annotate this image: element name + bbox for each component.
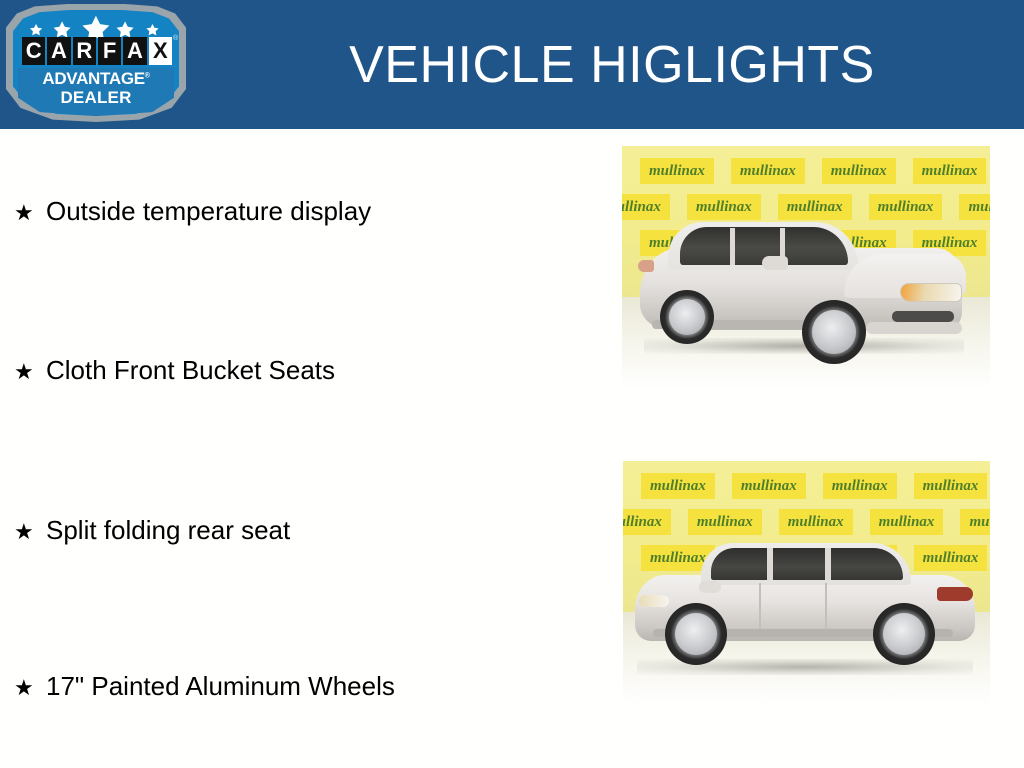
car-door-seam bbox=[759, 583, 761, 631]
mullinax-tile: mullinax bbox=[870, 509, 944, 535]
mullinax-tile: mullinax bbox=[914, 473, 988, 499]
car-b-pillar bbox=[767, 548, 773, 580]
car-illustration-side-profile bbox=[629, 537, 981, 687]
vehicle-photo-side-profile: mullinax mullinax mullinax mullinax mull… bbox=[623, 461, 990, 705]
mullinax-tile: mullinax bbox=[779, 509, 853, 535]
carfax-advantage-dealer-logo: C A R F A X ® ADVANTAGE® DEALER bbox=[6, 4, 186, 122]
car-rear-wheel-hub bbox=[883, 613, 925, 655]
list-item: ★ Split folding rear seat bbox=[14, 516, 290, 545]
car-front-wheel-hub bbox=[675, 613, 717, 655]
car-window-glass bbox=[711, 548, 903, 580]
list-item: ★ Cloth Front Bucket Seats bbox=[14, 356, 335, 385]
logo-tagline-panel: ADVANTAGE® DEALER bbox=[18, 68, 174, 116]
mullinax-tile: mullin bbox=[960, 509, 990, 535]
mullinax-tile: mullinax bbox=[688, 509, 762, 535]
logo-tagline-advantage: ADVANTAGE® bbox=[42, 70, 149, 89]
car-headlight bbox=[900, 283, 962, 302]
vehicle-highlights-list: ★ Outside temperature display ★ Cloth Fr… bbox=[0, 129, 600, 768]
car-c-pillar bbox=[825, 548, 831, 580]
car-front-bumper bbox=[866, 322, 962, 334]
mullinax-tile: mullinax bbox=[913, 158, 987, 184]
highlight-label: Outside temperature display bbox=[46, 197, 371, 226]
carfax-registered-mark: ® bbox=[173, 35, 178, 42]
mullinax-tile: mullinax bbox=[822, 158, 896, 184]
mullinax-tile: mullinax bbox=[732, 473, 806, 499]
highlight-label: Cloth Front Bucket Seats bbox=[46, 356, 335, 385]
backdrop-tile-row: mullinax mullinax mullinax mullinax bbox=[641, 473, 987, 499]
backdrop-tile-row: mullinax mullinax mullinax mullinax bbox=[640, 158, 986, 184]
backdrop-tile-row: mullinax mullinax mullinax mullinax mull… bbox=[623, 509, 990, 535]
star-bullet-icon: ★ bbox=[14, 522, 46, 544]
list-item: ★ Outside temperature display bbox=[14, 197, 371, 226]
car-side-mirror bbox=[762, 256, 788, 270]
mullinax-tile: mullinax bbox=[641, 473, 715, 499]
star-bullet-icon: ★ bbox=[14, 678, 46, 700]
mullinax-tile: mullinax bbox=[640, 158, 714, 184]
logo-tagline-sup: ® bbox=[145, 72, 150, 79]
car-rear-wheel bbox=[660, 290, 714, 344]
logo-tagline-dealer: DEALER bbox=[60, 89, 131, 108]
car-taillight bbox=[638, 260, 654, 272]
highlight-label: 17" Painted Aluminum Wheels bbox=[46, 672, 395, 701]
carfax-letter-a2: A bbox=[123, 37, 146, 65]
carfax-wordmark: C A R F A X bbox=[22, 37, 172, 65]
carfax-letter-f: F bbox=[98, 37, 121, 65]
car-grille bbox=[892, 311, 954, 322]
mullinax-tile: mullinax bbox=[823, 473, 897, 499]
mullinax-tile: mullinax bbox=[623, 509, 671, 535]
car-taillight bbox=[937, 587, 973, 601]
car-front-wheel bbox=[665, 603, 727, 665]
car-front-wheel-hub bbox=[812, 310, 856, 354]
carfax-letter-x: X bbox=[149, 37, 172, 65]
star-bullet-icon: ★ bbox=[14, 362, 46, 384]
carfax-letter-r: R bbox=[73, 37, 96, 65]
mullinax-tile: mullinax bbox=[731, 158, 805, 184]
carfax-letter-a1: A bbox=[47, 37, 70, 65]
list-item: ★ 17" Painted Aluminum Wheels bbox=[14, 672, 395, 701]
car-rear-wheel-hub bbox=[669, 299, 705, 335]
car-illustration-front-three-quarter bbox=[634, 208, 974, 368]
page-title: VEHICLE HIGLIGHTS bbox=[200, 0, 1024, 129]
logo-tagline-advantage-text: ADVANTAGE bbox=[42, 69, 144, 88]
car-door-seam bbox=[825, 583, 827, 631]
star-bullet-icon: ★ bbox=[14, 203, 46, 225]
vehicle-photo-front-three-quarter: mullinax mullinax mullinax mullinax mull… bbox=[622, 146, 990, 390]
highlight-label: Split folding rear seat bbox=[46, 516, 290, 545]
car-headlight bbox=[639, 595, 669, 607]
car-front-wheel bbox=[802, 300, 866, 364]
car-b-pillar bbox=[730, 228, 735, 265]
car-side-mirror bbox=[699, 581, 721, 593]
car-rear-wheel bbox=[873, 603, 935, 665]
carfax-letter-c: C bbox=[22, 37, 45, 65]
